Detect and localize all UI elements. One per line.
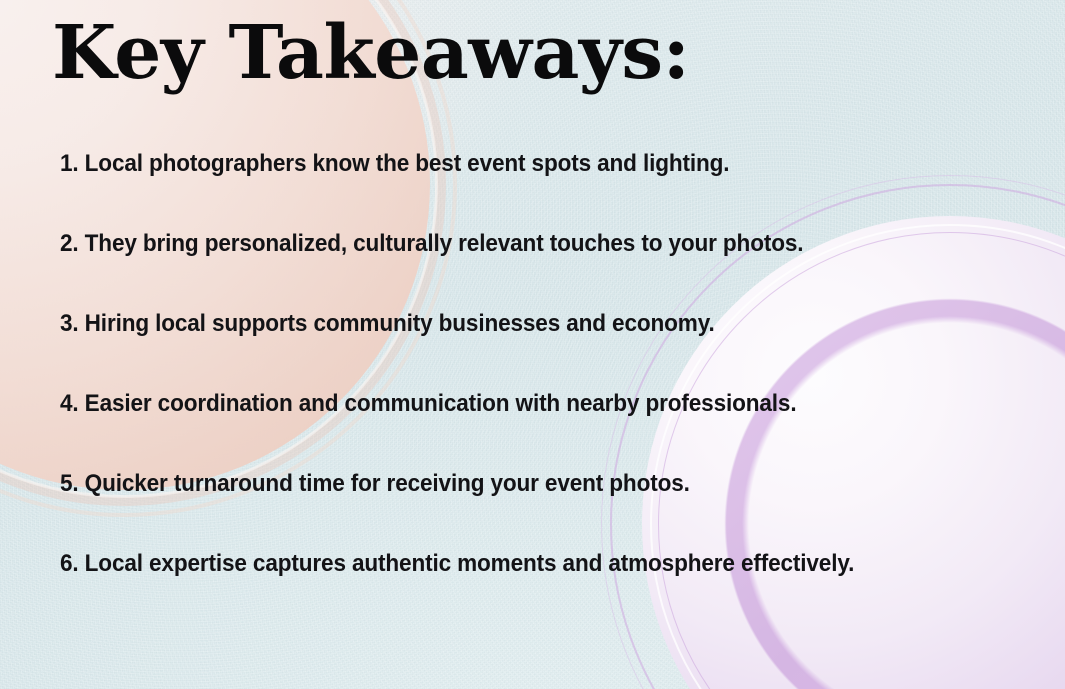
- list-item: 3. Hiring local supports community busin…: [60, 312, 944, 336]
- list-item: 5. Quicker turnaround time for receiving…: [60, 472, 944, 496]
- key-takeaways-card: Key Takeaways: 1. Local photographers kn…: [0, 0, 1065, 689]
- card-content: Key Takeaways: 1. Local photographers kn…: [0, 0, 1065, 689]
- list-item: 2. They bring personalized, culturally r…: [60, 232, 944, 256]
- list-item: 6. Local expertise captures authentic mo…: [60, 552, 944, 576]
- takeaways-list: 1. Local photographers know the best eve…: [60, 152, 1000, 576]
- list-item: 4. Easier coordination and communication…: [60, 392, 944, 416]
- list-item: 1. Local photographers know the best eve…: [60, 152, 944, 176]
- page-title: Key Takeaways:: [52, 16, 689, 91]
